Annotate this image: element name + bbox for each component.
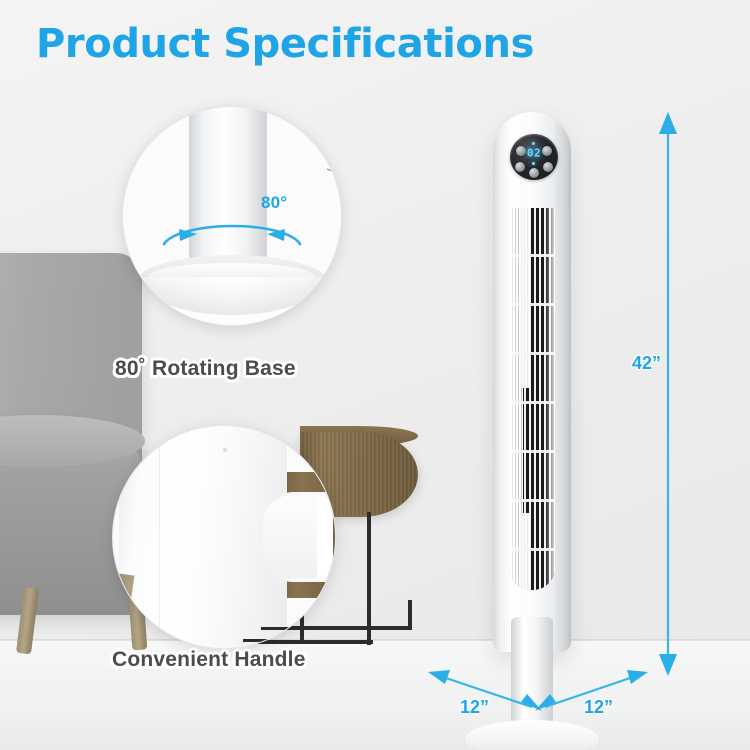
grille-highlight-left xyxy=(509,208,517,590)
tower-fan-air-grille xyxy=(509,208,555,590)
feature-label-rotating-base: 80˚ Rotating Base xyxy=(115,357,296,381)
led-display: 02 xyxy=(527,147,541,160)
feature-label-convenient-handle: Convenient Handle xyxy=(112,648,306,672)
base-width-right-label: 12” xyxy=(584,697,613,718)
callout-handle-inner xyxy=(263,496,317,578)
tower-fan-lower-column xyxy=(511,617,553,732)
tower-fan-base-top xyxy=(465,720,599,750)
control-panel[interactable]: 02 xyxy=(510,134,558,180)
base-width-left-label: 12” xyxy=(460,697,489,718)
mode-button[interactable] xyxy=(529,168,539,178)
tower-fan: 02 xyxy=(455,112,635,672)
callout-bg-table-rail xyxy=(261,627,336,630)
height-dimension-label: 42” xyxy=(632,353,661,374)
callout-shell-dot xyxy=(223,448,227,452)
speed-button[interactable] xyxy=(515,162,525,172)
side-table-leg xyxy=(408,600,412,628)
product-specifications-infographic: 02 80° xyxy=(0,0,750,750)
callout-bright-floor xyxy=(123,277,341,326)
grille-highlight-right xyxy=(545,208,555,590)
callout-convenient-handle xyxy=(112,425,336,649)
oscillation-button[interactable] xyxy=(543,162,553,172)
indicator-led-top xyxy=(532,142,535,145)
page-title: Product Specifications xyxy=(36,21,534,67)
callout-fan-column xyxy=(189,106,267,273)
callout-bg-table-rail xyxy=(243,639,336,642)
callout-fan-shell xyxy=(119,425,287,649)
timer-button[interactable] xyxy=(542,146,552,156)
power-button[interactable] xyxy=(516,146,526,156)
indicator-led-bottom xyxy=(532,162,535,165)
callout-rotating-base: 80° xyxy=(122,106,342,326)
rotation-degree-label: 80° xyxy=(261,193,287,213)
callout-shell-seam xyxy=(159,426,160,649)
rotation-arrow-right xyxy=(267,229,285,241)
